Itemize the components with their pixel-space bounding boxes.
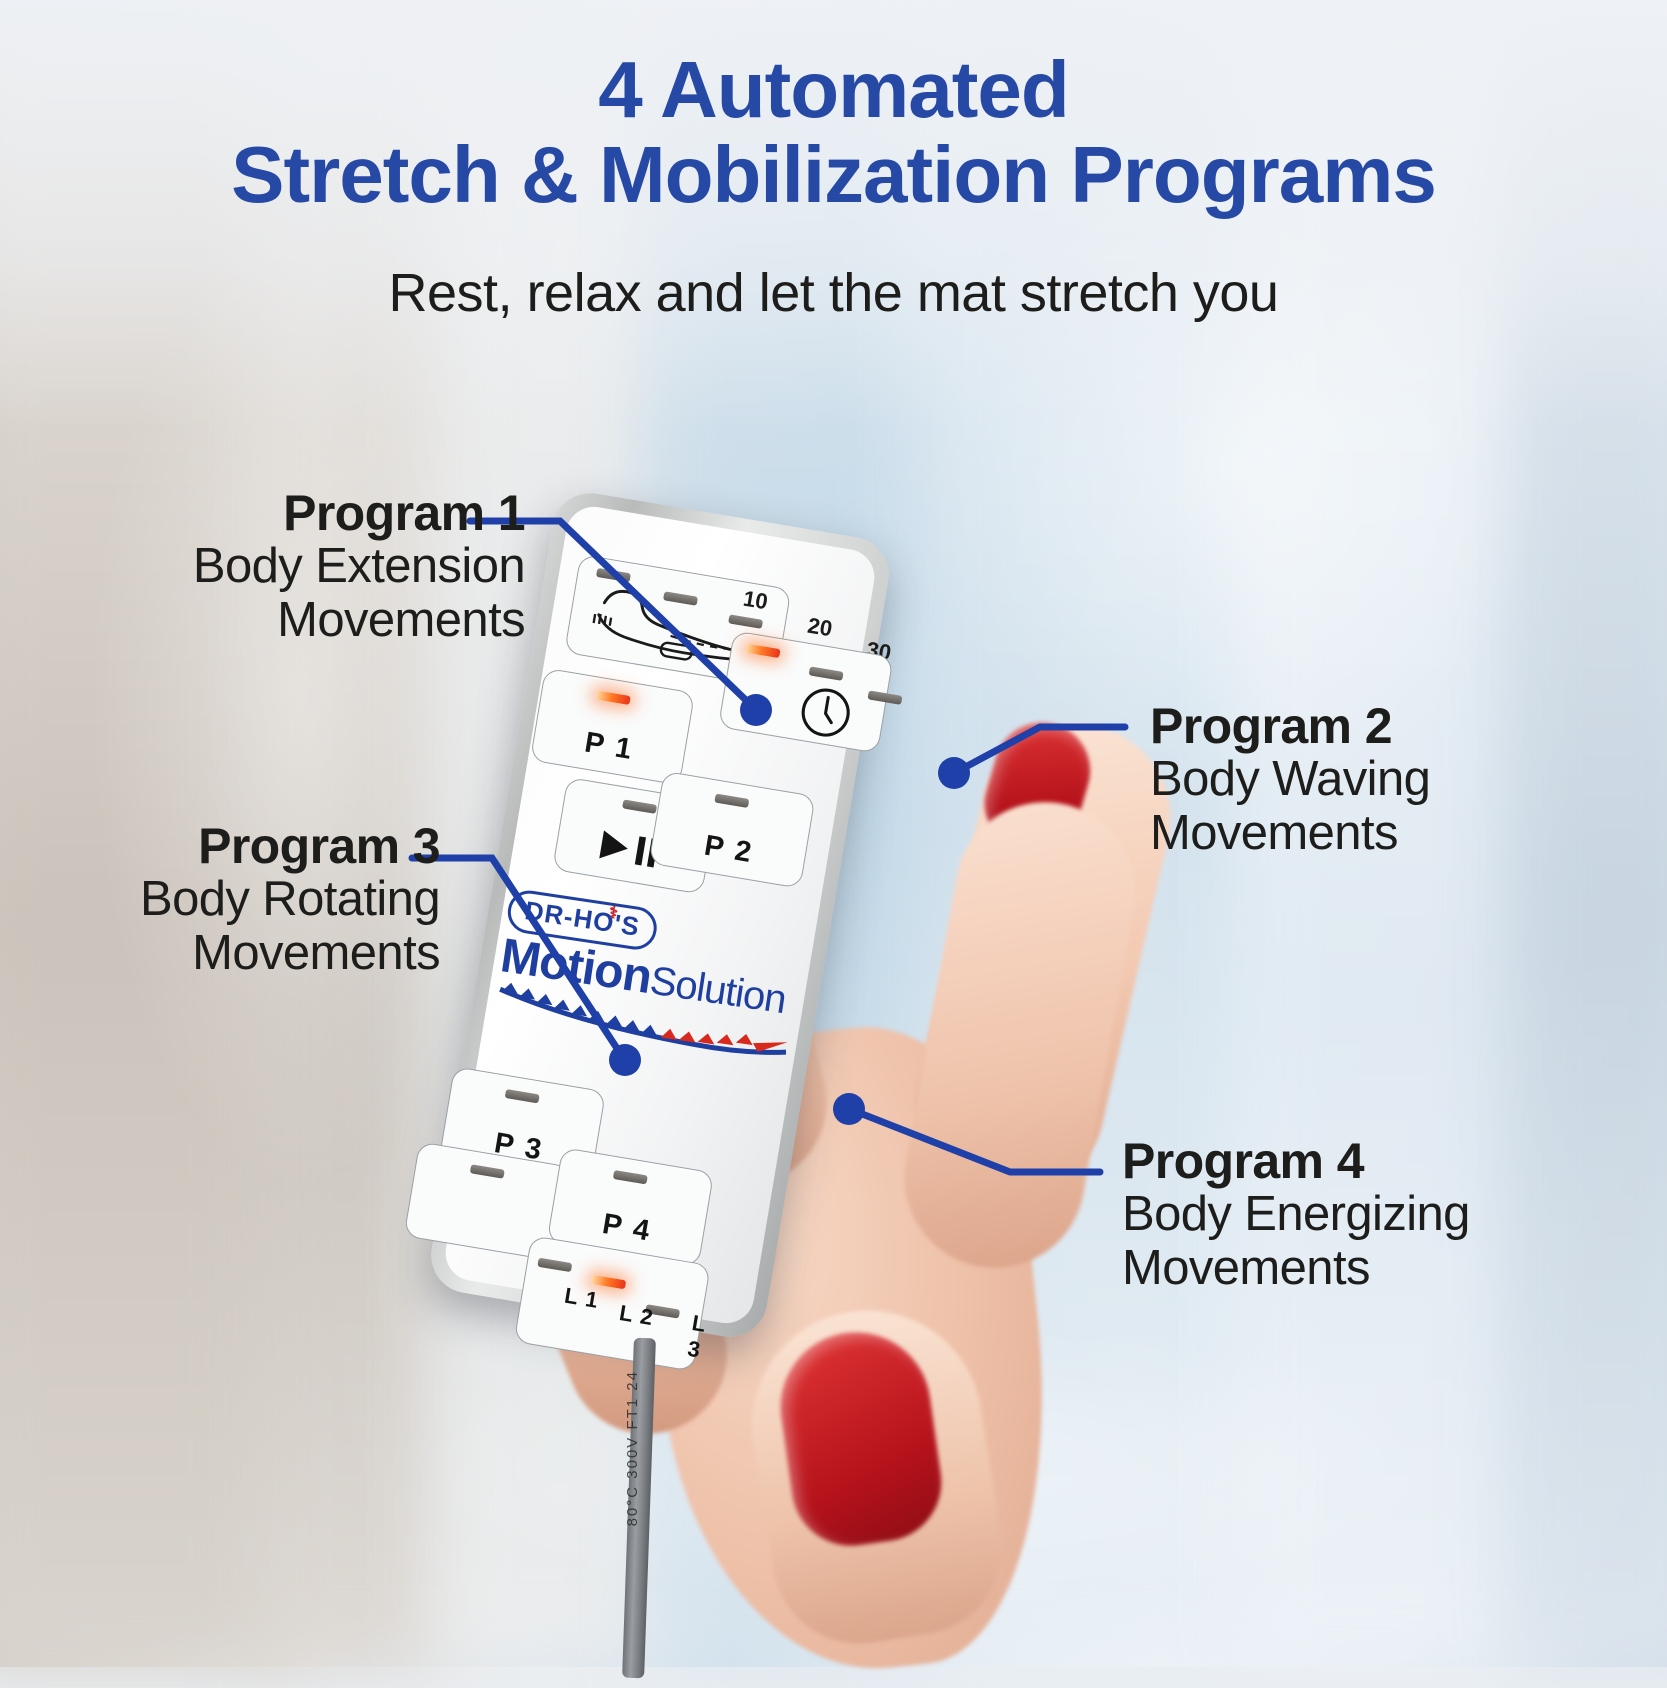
led-indicator-p2 xyxy=(714,794,749,808)
led-indicator-timer-30 xyxy=(867,690,902,704)
led-indicator-timer-10 xyxy=(745,644,780,658)
callout-program-4-title: Program 4 xyxy=(1122,1135,1642,1188)
led-indicator-p1 xyxy=(596,691,631,705)
callout-program-2: Program 2 Body Waving Movements xyxy=(1150,700,1650,861)
callout-program-1-title: Program 1 xyxy=(60,487,525,540)
finger-index-second xyxy=(891,788,1150,1282)
cable-marking-text: 80°C 300V FT1 24 xyxy=(624,1370,641,1526)
callout-program-1: Program 1 Body Extension Movements xyxy=(60,487,525,648)
page-title: 4 Automated Stretch & Mobilization Progr… xyxy=(0,48,1667,218)
led-indicator xyxy=(470,1164,505,1178)
callout-program-3: Program 3 Body Rotating Movements xyxy=(20,820,440,981)
callout-program-1-subtitle: Body Extension Movements xyxy=(60,540,525,648)
callout-program-2-subtitle: Body Waving Movements xyxy=(1150,753,1650,861)
clock-icon xyxy=(795,681,857,743)
callout-program-3-title: Program 3 xyxy=(20,820,440,873)
callout-program-2-title: Program 2 xyxy=(1150,700,1650,753)
led-indicator-l1 xyxy=(537,1258,572,1272)
callout-program-4-subtitle: Body Energizing Movements xyxy=(1122,1188,1642,1296)
callout-program-3-subtitle: Body Rotating Movements xyxy=(20,873,440,981)
timer-tick-20: 20 xyxy=(806,613,834,643)
callout-program-4: Program 4 Body Energizing Movements xyxy=(1122,1135,1642,1296)
page-subtitle: Rest, relax and let the mat stretch you xyxy=(0,262,1667,324)
hand-holding-remote-photo: 10 20 30 P 1 xyxy=(330,470,1210,1670)
led-indicator-p4 xyxy=(613,1170,648,1184)
led-indicator-p3 xyxy=(505,1089,540,1103)
timer-tick-10: 10 xyxy=(741,586,769,616)
led-indicator xyxy=(622,799,657,813)
led-indicator-timer-20 xyxy=(809,666,844,680)
